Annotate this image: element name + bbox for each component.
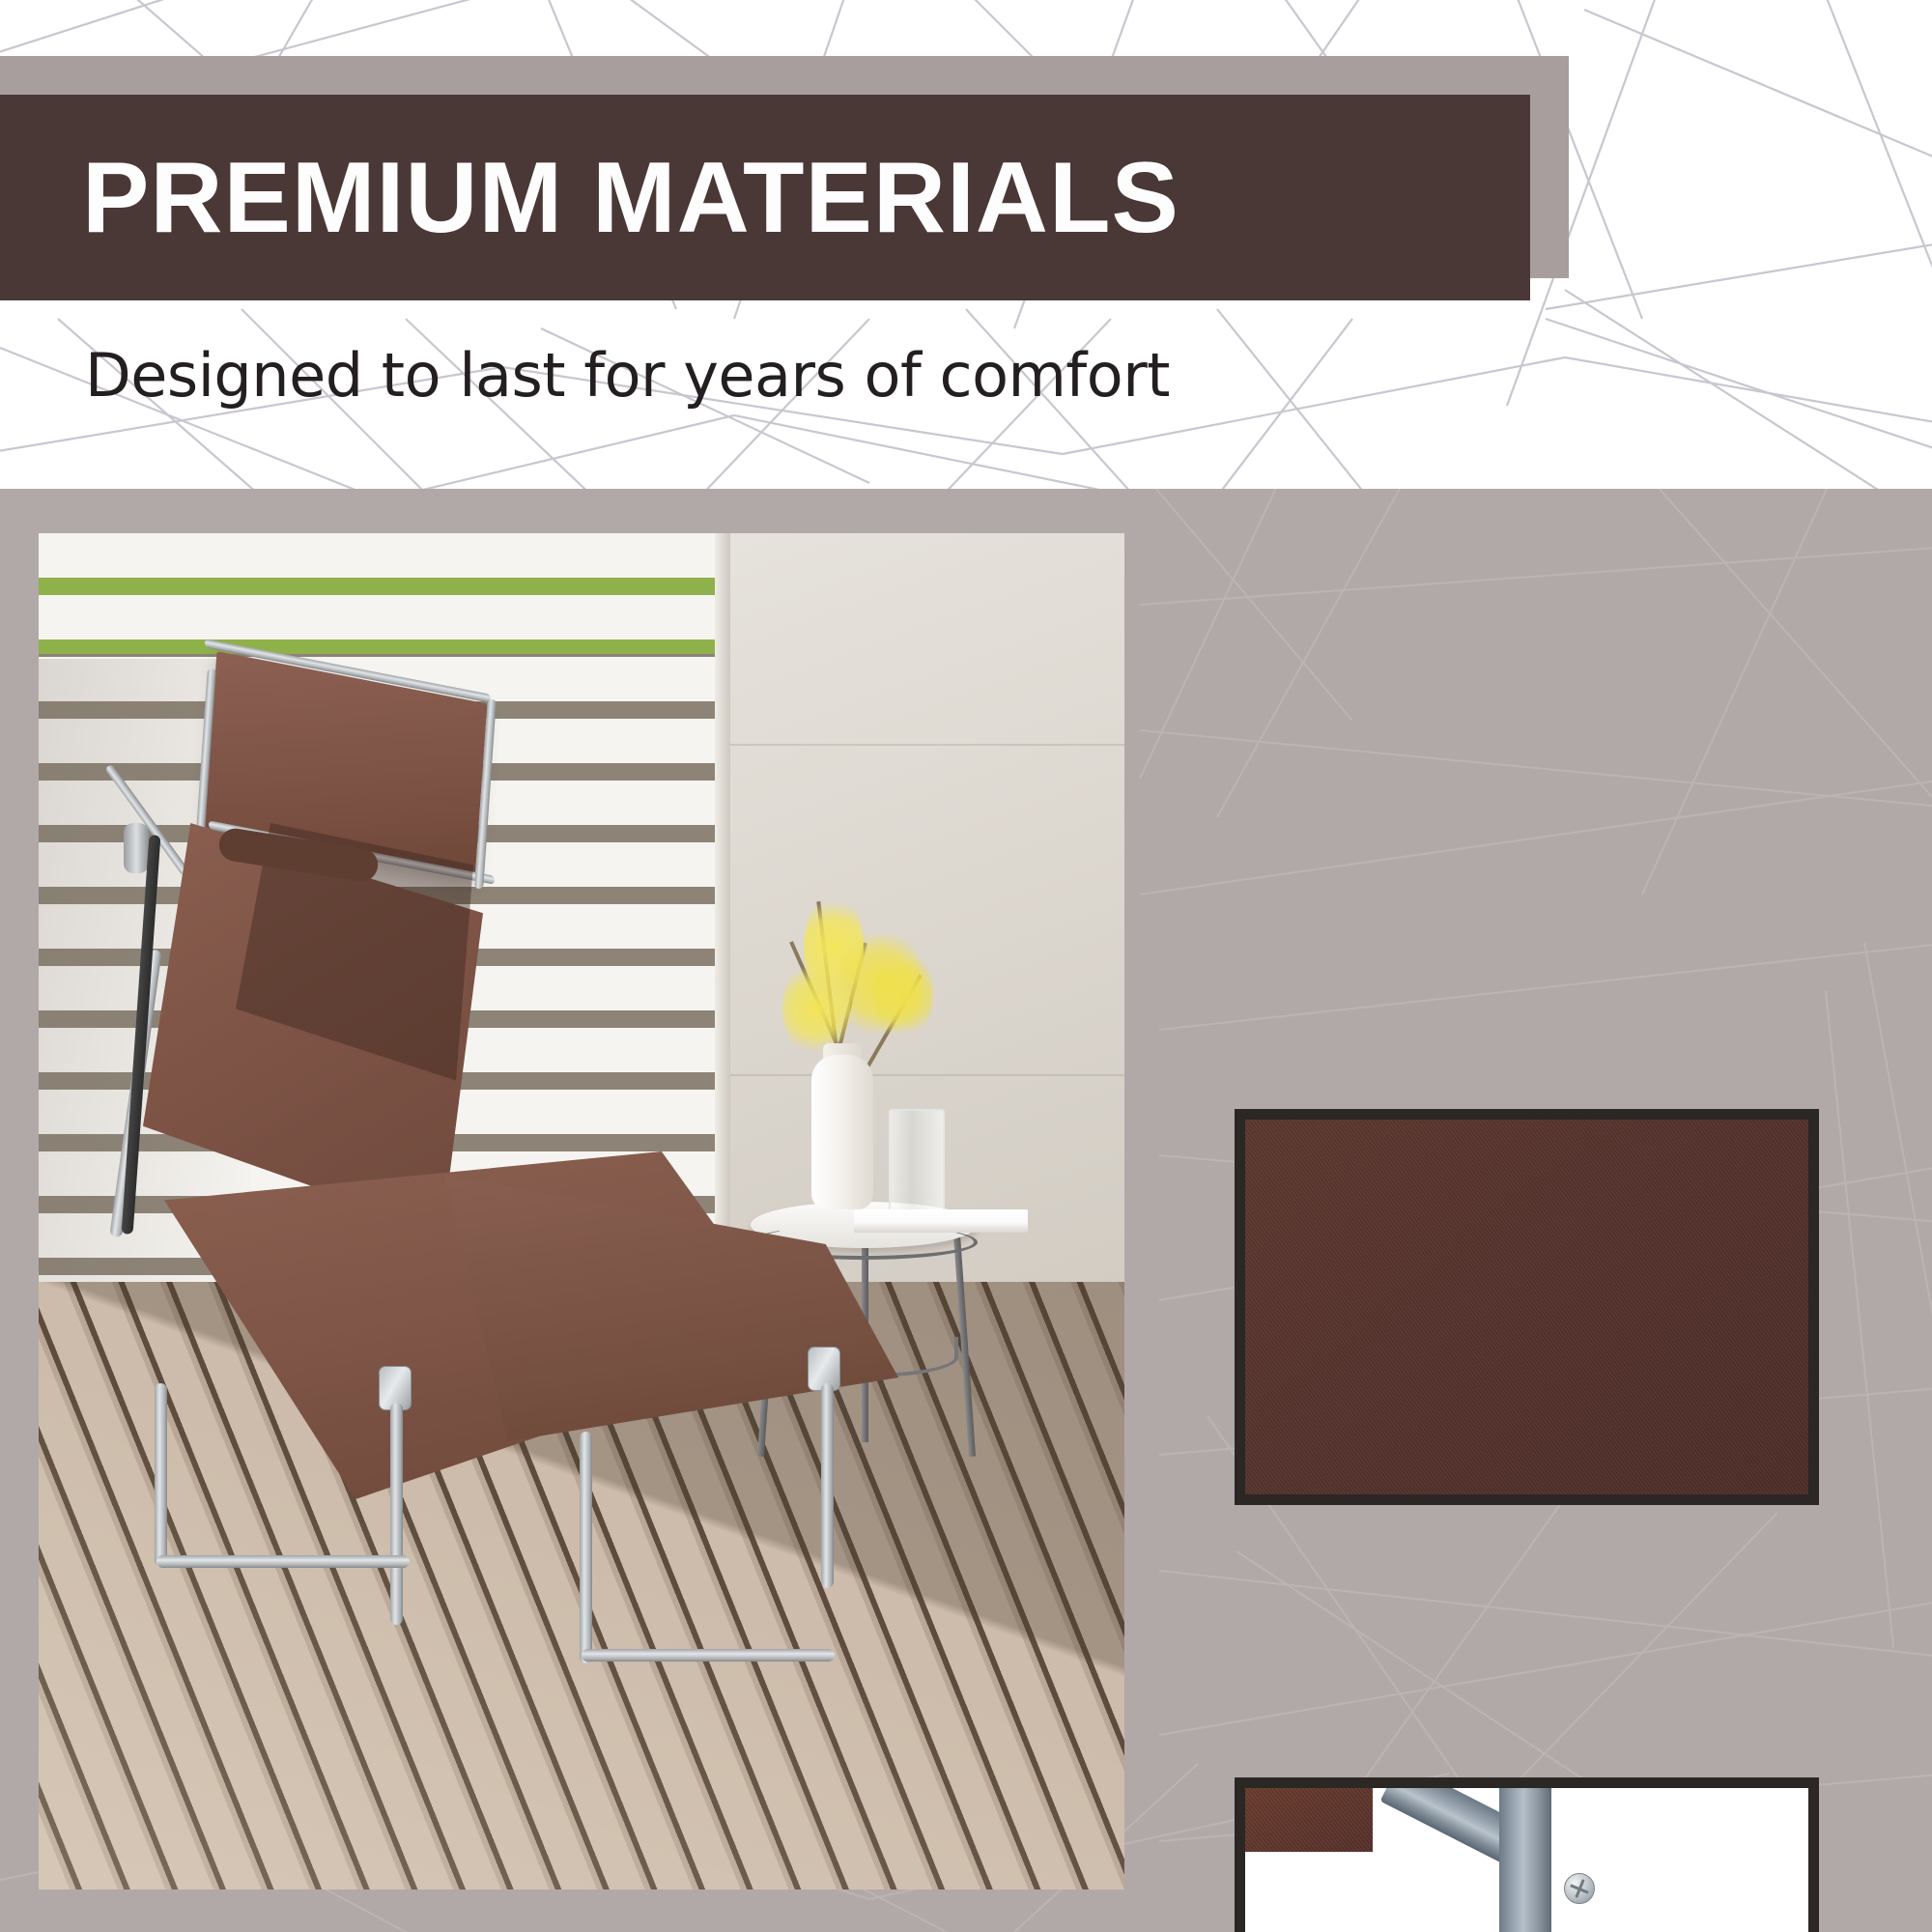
blossom-cluster xyxy=(873,949,933,1041)
foot-cross-bar xyxy=(156,1555,410,1568)
metal-frame-panel xyxy=(1235,1777,1819,1932)
fence-edge xyxy=(715,533,730,1296)
rear-leg-right xyxy=(821,1383,834,1588)
book xyxy=(854,1209,1028,1233)
wall-seam xyxy=(730,1074,1124,1076)
oxford-fabric-swatch xyxy=(1245,1120,1808,1494)
header-section: PREMIUM MATERIALS Designed to last for y… xyxy=(0,0,1932,489)
page-subtitle: Designed to last for years of comfort xyxy=(85,340,1170,411)
canopy-hinge xyxy=(124,823,149,873)
rear-leg-left xyxy=(580,1432,592,1663)
front-leg-left xyxy=(155,1383,167,1567)
screw-icon xyxy=(1564,1873,1595,1904)
header-banner: PREMIUM MATERIALS xyxy=(0,95,1530,300)
fabric-corner xyxy=(1245,1788,1373,1852)
drinking-glass xyxy=(889,1109,945,1215)
page-title: PREMIUM MATERIALS xyxy=(82,148,1179,248)
front-leg-right xyxy=(390,1403,403,1625)
hero-product-photo xyxy=(39,533,1124,1889)
wall-seam xyxy=(730,744,1124,746)
fabric-swatch-panel xyxy=(1235,1109,1819,1505)
foot-cross-bar xyxy=(582,1649,835,1662)
fence-greenery-gaps xyxy=(39,533,753,654)
frame-tube-vertical xyxy=(1499,1784,1551,1932)
content-section: Durable Oxford Cover Metal Frame xyxy=(0,489,1932,1932)
fabric-swatch-caption: Durable Oxford Cover xyxy=(1235,1532,1932,1588)
flower-vase xyxy=(811,1055,873,1209)
